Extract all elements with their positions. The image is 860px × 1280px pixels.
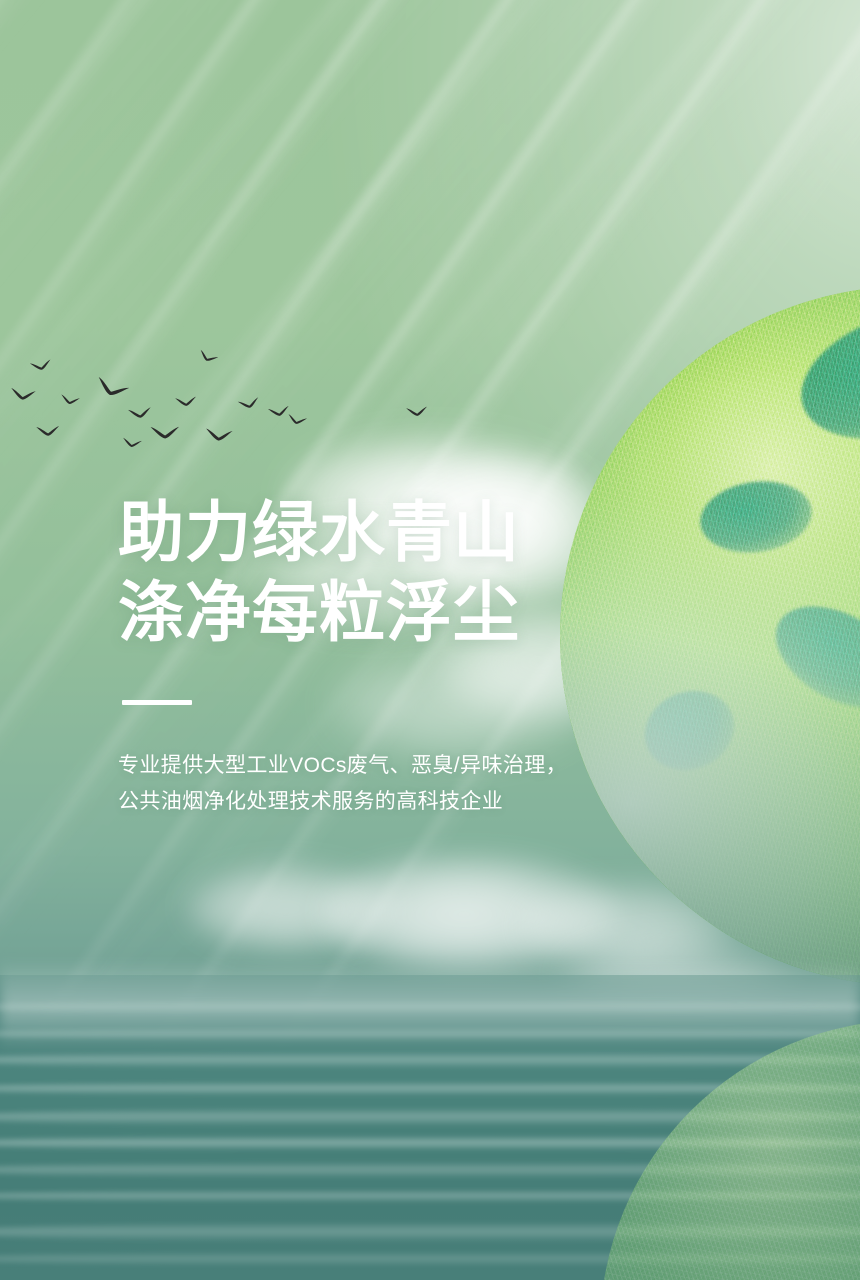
headline-line-1: 助力绿水青山: [118, 492, 678, 572]
subtitle-line-2: 公共油烟净化处理技术服务的高科技企业: [118, 785, 678, 819]
headline-divider: [122, 700, 192, 705]
headline-line-2: 涤净每粒浮尘: [118, 572, 678, 652]
subtitle-line-1: 专业提供大型工业VOCs废气、恶臭/异味治理，: [118, 749, 678, 783]
hero-copy: 助力绿水青山 涤净每粒浮尘 专业提供大型工业VOCs废气、恶臭/异味治理， 公共…: [118, 492, 678, 819]
eco-hero-poster: 助力绿水青山 涤净每粒浮尘 专业提供大型工业VOCs废气、恶臭/异味治理， 公共…: [0, 0, 860, 1280]
